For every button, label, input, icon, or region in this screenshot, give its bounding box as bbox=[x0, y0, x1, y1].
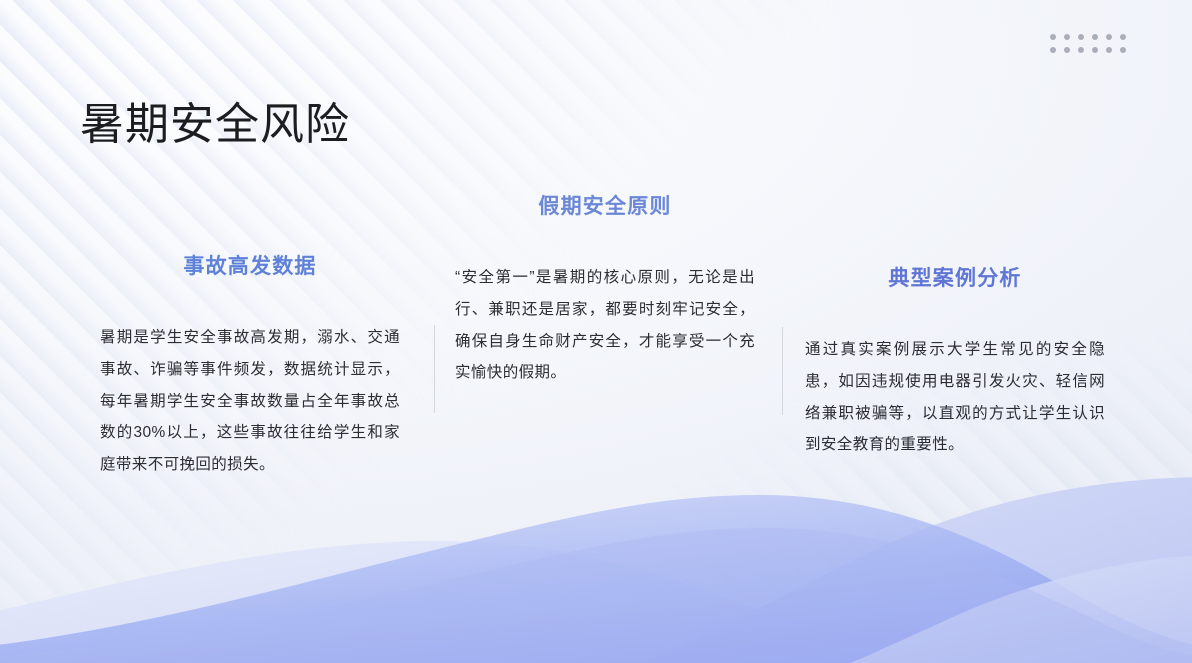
presentation-slide: 暑期安全风险 事故高发数据 暑期是学生安全事故高发期，溺水、交通事故、诈骗等事件… bbox=[0, 0, 1192, 663]
column-body-accident-data: 暑期是学生安全事故高发期，溺水、交通事故、诈骗等事件频发，数据统计显示，每年暑期… bbox=[100, 322, 400, 481]
content-column-case-analysis: 典型案例分析 通过真实案例展示大学生常见的安全隐患，如因违规使用电器引发火灾、轻… bbox=[805, 262, 1105, 461]
column-heading-safety-principles: 假期安全原则 bbox=[455, 190, 755, 220]
column-body-case-analysis: 通过真实案例展示大学生常见的安全隐患，如因违规使用电器引发火灾、轻信网络兼职被骗… bbox=[805, 334, 1105, 461]
content-columns: 事故高发数据 暑期是学生安全事故高发期，溺水、交通事故、诈骗等事件频发，数据统计… bbox=[0, 0, 1192, 663]
column-divider-left bbox=[434, 325, 435, 413]
column-heading-case-analysis: 典型案例分析 bbox=[805, 262, 1105, 292]
content-column-accident-data: 事故高发数据 暑期是学生安全事故高发期，溺水、交通事故、诈骗等事件频发，数据统计… bbox=[100, 250, 400, 481]
column-body-safety-principles: “安全第一”是暑期的核心原则，无论是出行、兼职还是居家，都要时刻牢记安全，确保自… bbox=[455, 262, 755, 389]
column-divider-right bbox=[782, 327, 783, 415]
column-heading-accident-data: 事故高发数据 bbox=[100, 250, 400, 280]
content-column-safety-principles: 假期安全原则 “安全第一”是暑期的核心原则，无论是出行、兼职还是居家，都要时刻牢… bbox=[455, 190, 755, 389]
